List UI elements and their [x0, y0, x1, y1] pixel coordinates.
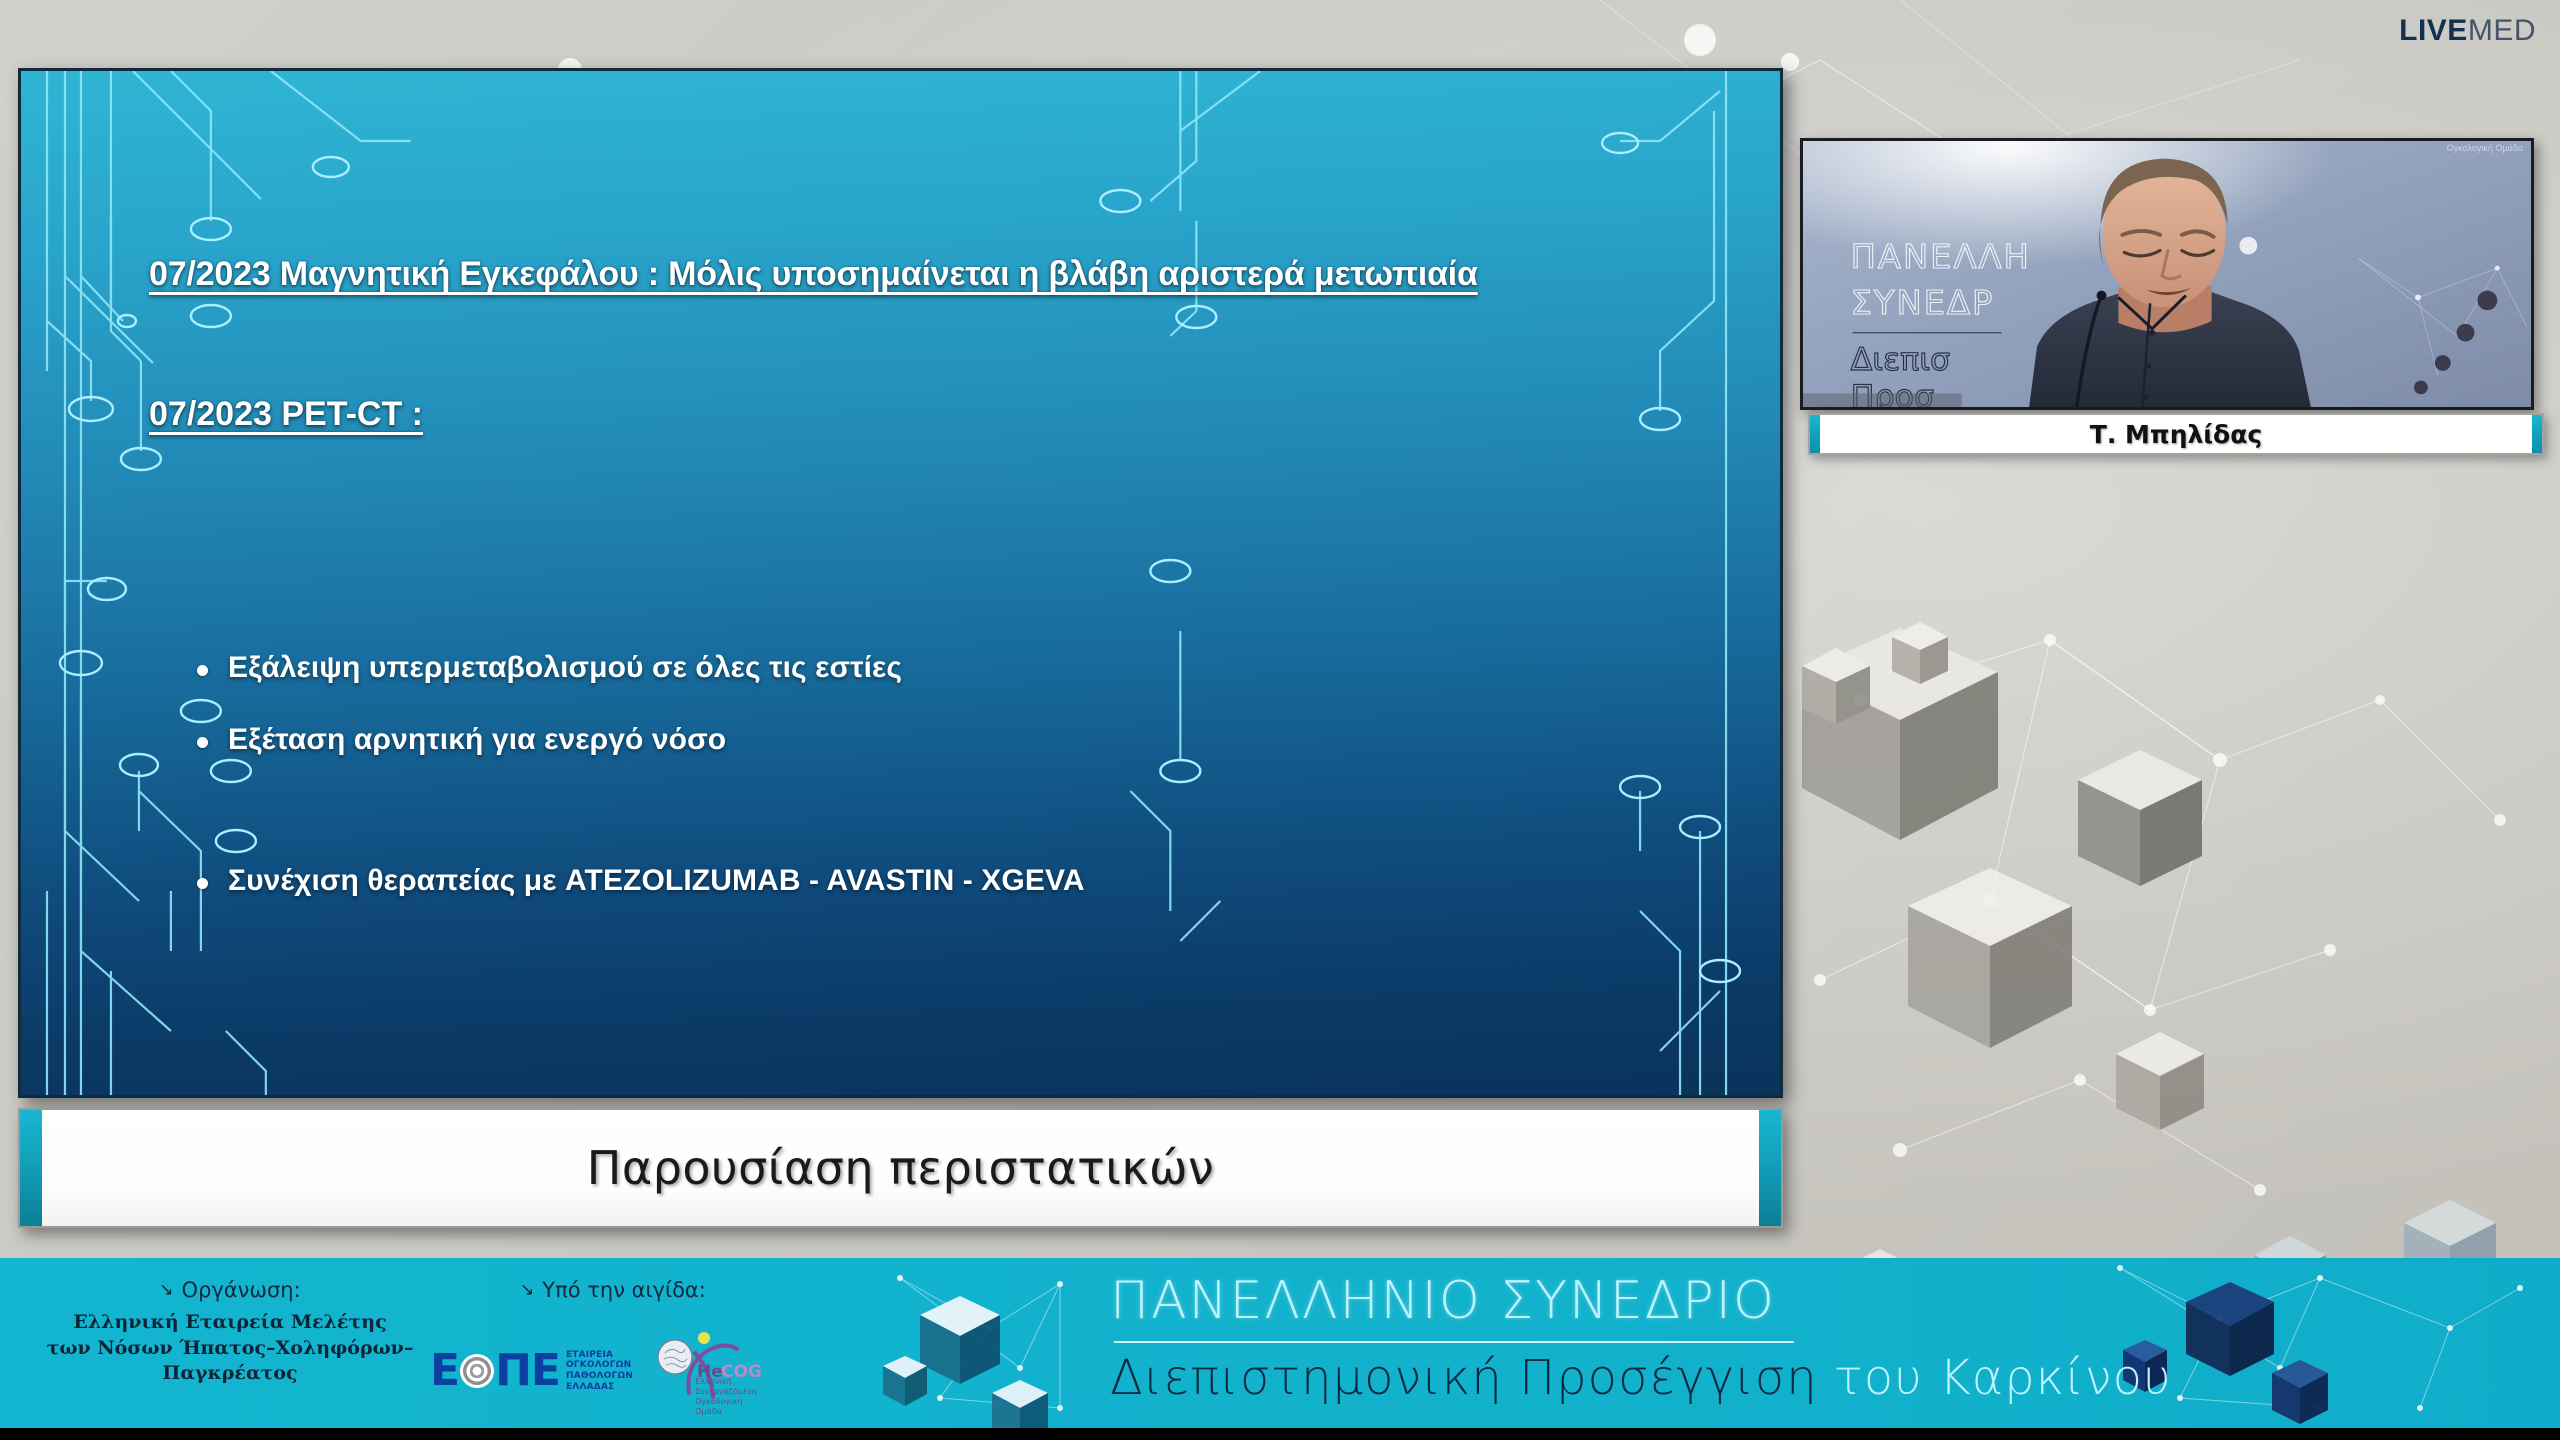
- hecog-sub-line3: Ογκολογική Ομάδα: [695, 1397, 763, 1417]
- arrow-down-right-icon: ↘: [159, 1282, 173, 1299]
- conference-title-line2-light: του Καρκίνου: [1818, 1350, 2172, 1406]
- svg-text:ΠΑΝΕΛΛΗ: ΠΑΝΕΛΛΗ: [1851, 237, 2031, 276]
- livemed-logo-light: MED: [2468, 14, 2536, 47]
- livemed-logo: LIVEMED: [2399, 14, 2536, 48]
- slide-canvas: 07/2023 Μαγνητική Εγκεφάλου : Μόλις υποσ…: [21, 71, 1780, 1095]
- video-watermark-text: Ογκολογική Ομάδα: [2447, 143, 2523, 153]
- aegis-block: ↘ Υπό την αιγίδα:: [520, 1278, 780, 1302]
- arrow-down-right-icon: ↘: [520, 1282, 534, 1299]
- screen-root: LIVEMED: [0, 0, 2560, 1440]
- organizer-name: Ελληνική Εταιρεία Μελέτης των Νόσων Ήπατ…: [20, 1310, 440, 1387]
- conference-title-line1: ΠΑΝΕΛΛΗΝΙΟ ΣΥΝΕΔΡΙΟ: [1110, 1274, 2172, 1329]
- conference-title-line2-dark: Διεπιστημονική Προσέγγιση: [1110, 1350, 1818, 1406]
- hecog-sub-line1: Ελληνική: [695, 1377, 763, 1387]
- title-bar-inner: Παρουσίαση περιστατικών: [42, 1110, 1759, 1226]
- eope-sub-line1: ΕΤΑΙΡΕΙΑ: [566, 1350, 633, 1361]
- svg-text:Διεπισ: Διεπισ: [1851, 342, 1951, 378]
- conference-title-rule: [1114, 1341, 1794, 1343]
- eope-logo-mark: Ε ΠΕ: [430, 1349, 560, 1393]
- speaker-name-plate: Τ. Μπηλίδας: [1808, 413, 2544, 455]
- eope-logo-subtext: ΕΤΑΙΡΕΙΑ ΟΓΚΟΛΟΓΩΝ ΠΑΘΟΛΟΓΩΝ ΕΛΛΑΔΑΣ: [566, 1350, 633, 1392]
- eope-logo: Ε ΠΕ ΕΤΑΙΡΕΙΑ ΟΓΚΟΛΟΓΩΝ ΠΑΘΟΛΟΓΩΝ ΕΛΛΑΔΑ…: [430, 1349, 633, 1393]
- bullet-dot-icon: [197, 737, 208, 748]
- slide-heading-pet: 07/2023 PET-CT :: [149, 395, 1780, 434]
- livemed-logo-bold: LIVE: [2399, 14, 2468, 47]
- eope-sub-line3: ΠΑΘΟΛΟΓΩΝ: [566, 1371, 633, 1382]
- session-title-bar: Παρουσίαση περιστατικών: [18, 1108, 1783, 1228]
- conference-title-block: ΠΑΝΕΛΛΗΝΙΟ ΣΥΝΕΔΡΙΟ Διεπιστημονική Προσέ…: [1110, 1274, 2172, 1403]
- slide-bullet-item: Συνέχιση θεραπείας με ATEZOLIZUMAB - AVA…: [197, 864, 1085, 898]
- session-title-text: Παρουσίαση περιστατικών: [587, 1141, 1214, 1195]
- bullet-dot-icon: [197, 665, 208, 676]
- title-accent-right: [1759, 1110, 1781, 1226]
- hecog-sub-line2: Συνεργαζόμενη: [695, 1387, 763, 1397]
- banner-bottom-strip: [0, 1428, 2560, 1440]
- organizer-name-line1: Ελληνική Εταιρεία Μελέτης: [20, 1310, 440, 1336]
- eope-logo-letter-e: Ε: [430, 1349, 459, 1393]
- speaker-accent-right: [2532, 415, 2542, 453]
- speaker-video-panel[interactable]: ΠΑΝΕΛΛΗ ΣΥΝΕΔΡ Διεπισ Προσ: [1800, 138, 2534, 410]
- conference-title-line2: Διεπιστημονική Προσέγγιση του Καρκίνου: [1110, 1353, 2172, 1403]
- organizer-label: Οργάνωση:: [182, 1278, 301, 1302]
- circuit-decoration-graphic: [21, 71, 1780, 1095]
- speaker-name-text: Τ. Μπηλίδας: [2090, 420, 2262, 449]
- eope-sub-line4: ΕΛΛΑΔΑΣ: [566, 1382, 633, 1393]
- sponsor-logo-row: Ε ΠΕ ΕΤΑΙΡΕΙΑ ΟΓΚΟΛΟΓΩΝ ΠΑΘΟΛΟΓΩΝ ΕΛΛΑΔΑ…: [430, 1328, 763, 1414]
- aegis-label-row: ↘ Υπό την αιγίδα:: [520, 1278, 780, 1302]
- title-accent-left: [20, 1110, 42, 1226]
- slide-heading-mri: 07/2023 Μαγνητική Εγκεφάλου : Μόλις υποσ…: [149, 255, 1780, 294]
- conference-banner: ↘ Οργάνωση: Ελληνική Εταιρεία Μελέτης τω…: [0, 1258, 2560, 1440]
- bullet-dot-icon: [197, 878, 208, 889]
- svg-text:ΣΥΝΕΔΡ: ΣΥΝΕΔΡ: [1851, 283, 1995, 322]
- hecog-logo-subtext: Ελληνική Συνεργαζόμενη Ογκολογική Ομάδα: [695, 1377, 763, 1417]
- speaker-video-frame: ΠΑΝΕΛΛΗ ΣΥΝΕΔΡ Διεπισ Προσ: [1803, 141, 2531, 407]
- hecog-logo: He COG Ελληνική Συνεργαζόμενη Ογκολογική…: [655, 1331, 763, 1411]
- speaker-plate-inner: Τ. Μπηλίδας: [1820, 415, 2532, 453]
- eope-logo-letters-pe: ΠΕ: [495, 1349, 560, 1393]
- presentation-slide[interactable]: 07/2023 Μαγνητική Εγκεφάλου : Μόλις υποσ…: [18, 68, 1783, 1098]
- slide-bullet-item: Εξέταση αρνητική για ενεργό νόσο: [197, 723, 726, 757]
- organizer-block: ↘ Οργάνωση: Ελληνική Εταιρεία Μελέτης τω…: [20, 1278, 440, 1387]
- slide-bullet-item: Εξάλειψη υπερμεταβολισμού σε όλες τις εσ…: [197, 651, 902, 685]
- aegis-label: Υπό την αιγίδα:: [542, 1278, 706, 1302]
- slide-bullet-text: Εξάλειψη υπερμεταβολισμού σε όλες τις εσ…: [228, 651, 902, 685]
- eope-sub-line2: ΟΓΚΟΛΟΓΩΝ: [566, 1360, 633, 1371]
- slide-bullet-text: Συνέχιση θεραπείας με ATEZOLIZUMAB - AVA…: [228, 864, 1085, 898]
- eope-spiral-icon: [460, 1354, 494, 1388]
- speaker-accent-left: [1810, 415, 1820, 453]
- organizer-name-line2: των Νόσων Ήπατος–Χοληφόρων–Παγκρέατος: [20, 1336, 440, 1387]
- organizer-label-row: ↘ Οργάνωση:: [20, 1278, 440, 1302]
- slide-bullet-text: Εξέταση αρνητική για ενεργό νόσο: [228, 723, 726, 757]
